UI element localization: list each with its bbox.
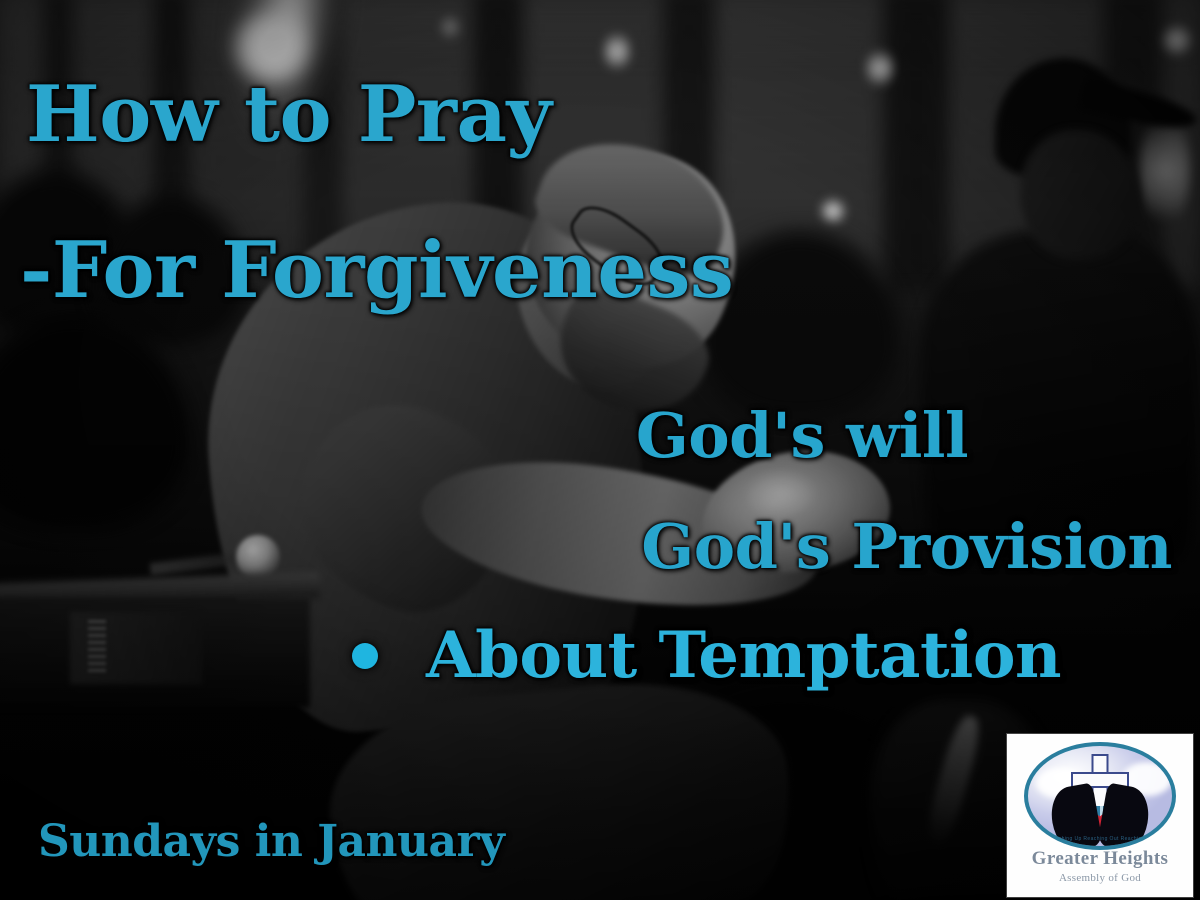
logo-church-subtitle: Assembly of God bbox=[1007, 872, 1193, 884]
slide-subject: -For Forgiveness bbox=[20, 232, 733, 310]
point-gods-will: God's will bbox=[636, 405, 968, 467]
logo-badge: Reaching Up Reaching Out Reaching In bbox=[1024, 742, 1176, 850]
point-gods-provision: God's Provision bbox=[641, 516, 1172, 578]
logo-church-name: Greater Heights bbox=[1007, 848, 1193, 870]
sermon-slide: How to Pray -For Forgiveness God's will … bbox=[0, 0, 1200, 900]
point-about-temptation: About Temptation bbox=[426, 624, 1061, 688]
bullet-dot-icon bbox=[352, 643, 378, 669]
church-logo: Reaching Up Reaching Out Reaching In Gre… bbox=[1007, 734, 1193, 897]
logo-arc-text: Reaching Up Reaching Out Reaching In bbox=[1040, 836, 1160, 842]
bullet-point-row: About Temptation bbox=[352, 624, 1061, 688]
slide-title: How to Pray bbox=[26, 76, 551, 154]
globe-oval-icon: Reaching Up Reaching Out Reaching In bbox=[1024, 742, 1176, 850]
schedule-text: Sundays in January bbox=[38, 820, 504, 864]
